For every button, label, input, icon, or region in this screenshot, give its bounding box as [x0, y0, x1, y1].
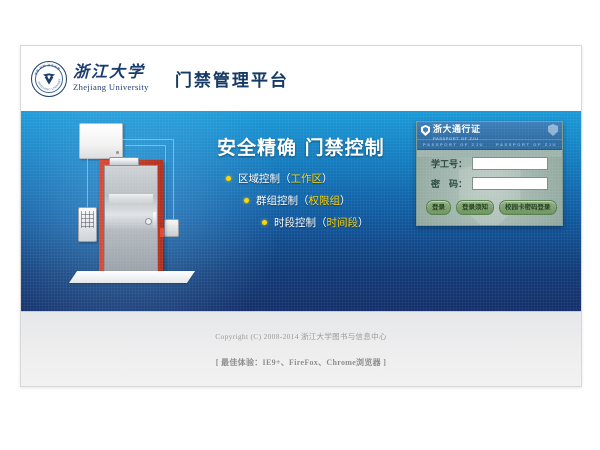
- bullet-tail: ）: [322, 171, 333, 186]
- bullet-dot-icon: [262, 220, 267, 225]
- list-item: 区域控制（ 工作区 ）: [226, 171, 369, 186]
- shield-icon: [421, 125, 430, 136]
- hero-banner: 安全精确 门禁控制 区域控制（ 工作区 ） 群组控制（ 权限组 ） 时段控制（ …: [21, 111, 581, 311]
- browser-compat-note: [ 最佳体验：IE9+、FireFox、Chrome浏览器 ]: [216, 357, 386, 368]
- wire: [87, 157, 88, 209]
- bullet-dot-icon: [244, 198, 249, 203]
- copyright-text: Copyright (C) 2008-2014 浙江大学图书与信息中心: [215, 331, 387, 342]
- page-frame: 求是 創新 浙江大學 ZHEJIANG UNIVERSITY 浙江大学 Zhej…: [20, 45, 582, 387]
- ribbon-text: PASSPORT OF ZJU: [417, 142, 490, 147]
- banner-headline: 安全精确 门禁控制: [217, 133, 385, 160]
- keypad-reader-icon: [78, 207, 97, 242]
- list-item: 时段控制（ 时间段 ）: [262, 215, 369, 230]
- university-name-en: Zhejiang University: [73, 83, 149, 92]
- login-button[interactable]: 登录: [426, 200, 451, 215]
- login-title: 浙大通行证 PASSPORT OF ZJU: [433, 121, 481, 141]
- bullet-text: 群组控制（: [256, 193, 309, 208]
- card-reader-icon: [164, 219, 179, 237]
- username-input[interactable]: [472, 157, 548, 170]
- bullet-text: 区域控制（: [238, 171, 291, 186]
- login-panel-header: 浙大通行证 PASSPORT OF ZJU: [417, 122, 562, 139]
- university-name-cn: 浙江大学: [73, 65, 149, 81]
- floor-platform: [69, 271, 195, 283]
- site-footer: Copyright (C) 2008-2014 浙江大学图书与信息中心 [ 最佳…: [21, 311, 581, 386]
- door-frame: [99, 160, 163, 275]
- campus-card-login-button[interactable]: 校园卡密码登录: [499, 200, 557, 215]
- wire: [125, 145, 165, 146]
- electric-strike-icon: [160, 228, 164, 237]
- login-title-cn: 浙大通行证: [433, 124, 481, 134]
- page-title: 门禁管理平台: [175, 66, 289, 91]
- bullet-tail: ）: [340, 193, 351, 208]
- seal-bird-icon: [42, 72, 57, 87]
- login-button-row: 登录 登录须知 校园卡密码登录: [426, 200, 562, 215]
- password-input[interactable]: [472, 177, 548, 190]
- shield-watermark-icon: [548, 124, 558, 136]
- access-control-illustration: [57, 119, 197, 304]
- controller-box-icon: [79, 123, 123, 159]
- bullet-highlight: 工作区: [291, 171, 323, 186]
- university-wordmark: 浙江大学 Zhejiang University: [73, 65, 149, 92]
- username-row: 学工号：: [425, 157, 562, 170]
- site-header: 求是 創新 浙江大學 ZHEJIANG UNIVERSITY 浙江大学 Zhej…: [21, 46, 581, 111]
- wire: [121, 139, 173, 140]
- password-row: 密 码：: [425, 177, 562, 190]
- login-form: 学工号： 密 码： 登录 登录须知 校园卡密码登录: [417, 157, 562, 226]
- bullet-highlight: 权限组: [309, 193, 341, 208]
- feature-bullet-list: 区域控制（ 工作区 ） 群组控制（ 权限组 ） 时段控制（ 时间段 ）: [226, 171, 369, 237]
- wire: [173, 139, 174, 227]
- list-item: 群组控制（ 权限组 ）: [244, 193, 369, 208]
- login-notice-button[interactable]: 登录须知: [456, 200, 494, 215]
- wire: [165, 145, 166, 225]
- password-label: 密 码：: [425, 177, 467, 190]
- ribbon-text: PASSPORT OF ZJU: [490, 142, 562, 147]
- bullet-highlight: 时间段: [327, 215, 359, 230]
- door-leaf: [104, 165, 158, 275]
- university-logo[interactable]: 求是 創新 浙江大學 ZHEJIANG UNIVERSITY 浙江大学 Zhej…: [31, 61, 149, 97]
- zju-seal-icon: 求是 創新 浙江大學 ZHEJIANG UNIVERSITY: [31, 61, 67, 97]
- username-label: 学工号：: [425, 157, 467, 170]
- login-title-en: PASSPORT OF ZJU: [433, 137, 481, 141]
- login-panel: 浙大通行证 PASSPORT OF ZJU PASSPORT OF ZJU PA…: [416, 121, 563, 226]
- bullet-dot-icon: [226, 176, 231, 181]
- bullet-tail: ）: [358, 215, 369, 230]
- bullet-text: 时段控制（: [274, 215, 327, 230]
